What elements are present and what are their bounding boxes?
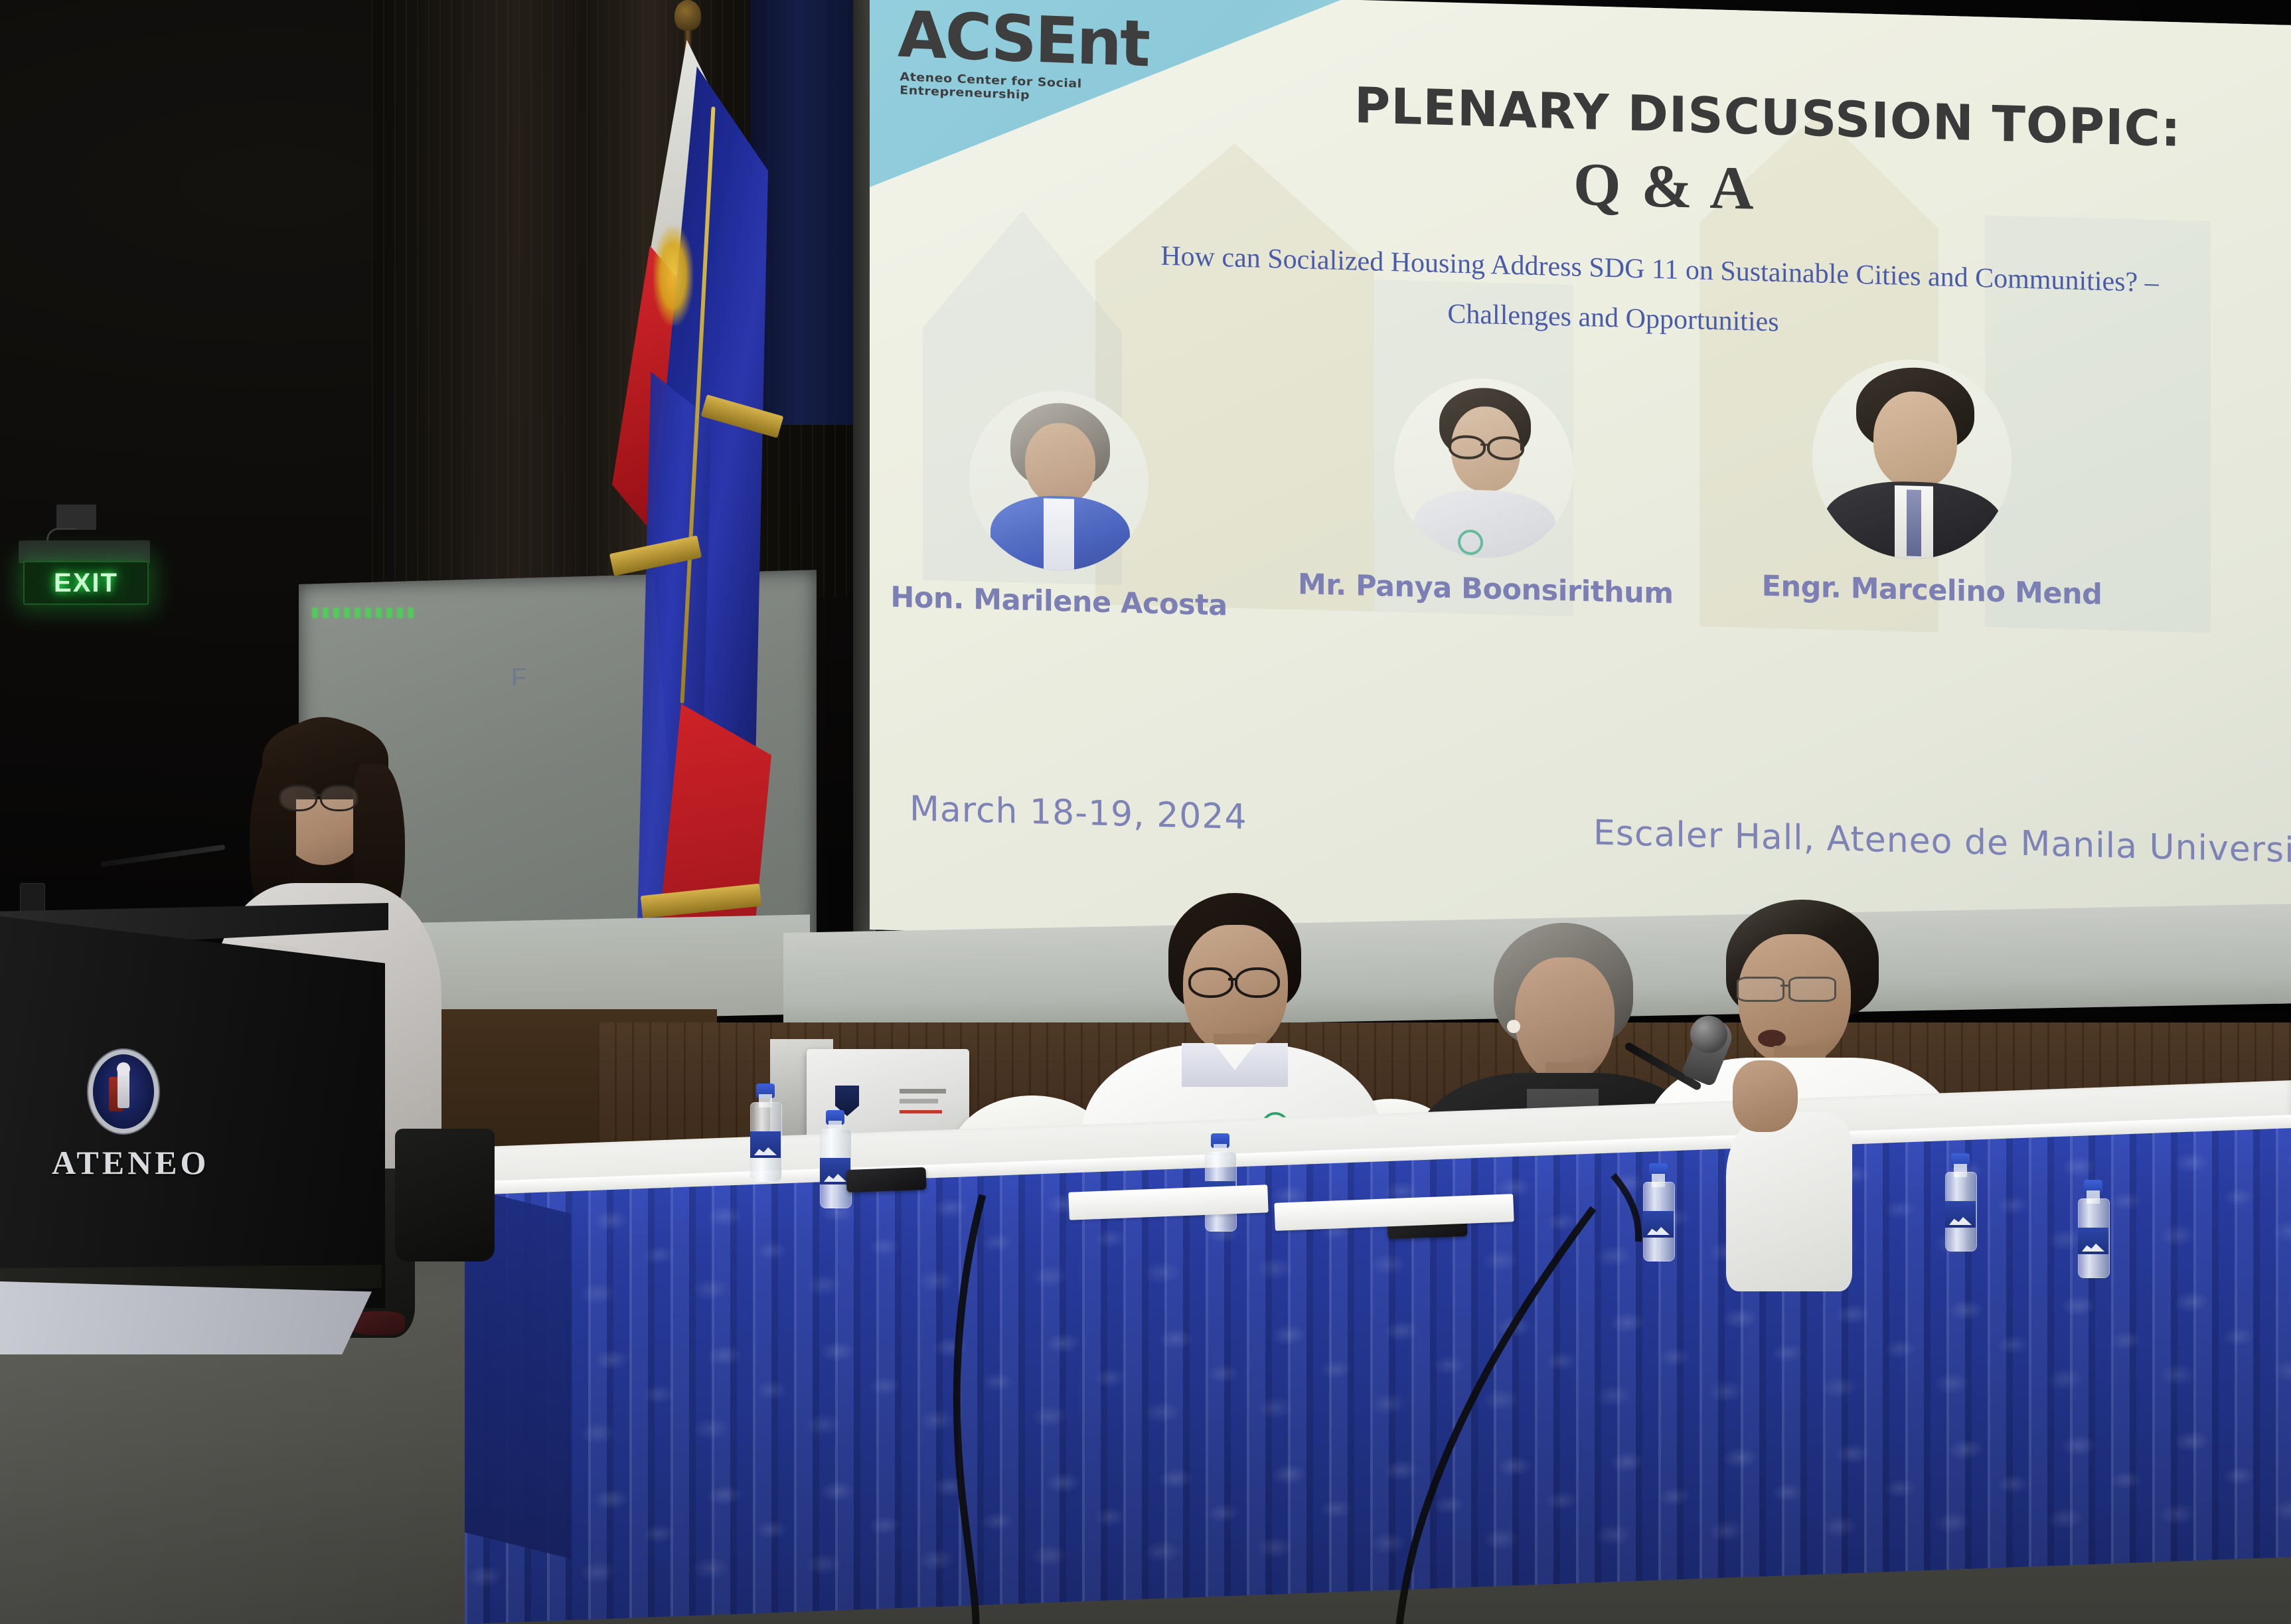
- speaker-name-2: Mr. Panya Boonsirithum: [1298, 568, 1670, 610]
- portrait-face: [1025, 422, 1095, 505]
- whiteboard-green-marks: [312, 608, 418, 618]
- panelist-glasses: [1737, 977, 1843, 999]
- conference-photo-scene: F EXIT ACSEnt Ateneo Center for Social E…: [0, 0, 2291, 1624]
- projection-screen: ACSEnt Ateneo Center for Social Entrepre…: [870, 0, 2291, 968]
- speaker-glasses: [279, 785, 365, 809]
- water-bottle[interactable]: [1945, 1152, 1976, 1252]
- speaker-portrait-2: Mr. Panya Boonsirithum: [1394, 376, 1573, 560]
- ups-stripe: [900, 1099, 938, 1103]
- exit-sign-hood: [19, 540, 150, 563]
- water-bottle[interactable]: [2078, 1178, 2108, 1278]
- portrait-glasses: [1449, 435, 1523, 457]
- portrait-shirt-logo: [1458, 529, 1483, 555]
- portrait-blouse: [1044, 499, 1074, 573]
- water-bottle[interactable]: [820, 1109, 850, 1208]
- panelist-earring: [1507, 1020, 1520, 1033]
- portrait-torso: [1414, 489, 1556, 560]
- remote-control[interactable]: [846, 1167, 926, 1192]
- ups-stripe: [900, 1089, 946, 1094]
- portrait-circle: [1394, 376, 1573, 560]
- panelist-hand: [1733, 1060, 1798, 1132]
- portrait-circle: [969, 389, 1148, 573]
- portrait-face: [1873, 390, 1957, 489]
- bag-on-floor: [395, 1129, 495, 1261]
- speaker-name-1: Hon. Marilene Acosta: [873, 580, 1245, 623]
- lectern: [0, 916, 385, 1308]
- water-bottle[interactable]: [1205, 1132, 1235, 1232]
- panelist-open-mouth: [1758, 1030, 1786, 1047]
- speaker-portrait-3: Engr. Marcelino Mend: [1812, 357, 2012, 562]
- panelist-glasses: [1188, 967, 1284, 994]
- portrait-circle: [1812, 357, 2012, 562]
- whiteboard-smudge: F: [511, 664, 534, 690]
- exit-sign-label: EXIT: [54, 568, 118, 598]
- exit-mount-plate: [56, 505, 96, 530]
- panelist-raised-arm: [1726, 1112, 1852, 1291]
- lectern-base: [0, 1281, 372, 1354]
- exit-sign: EXIT: [23, 561, 149, 605]
- speaker-name-3: Engr. Marcelino Mend: [1746, 569, 2118, 611]
- philippine-flag: [617, 27, 760, 976]
- blue-curtain: [750, 0, 870, 425]
- flag-sun-emblem: [653, 226, 693, 325]
- water-bottle[interactable]: [750, 1082, 781, 1182]
- water-bottle[interactable]: [1643, 1162, 1674, 1261]
- ateneo-seal-icon: [93, 1054, 154, 1129]
- microphone-head: [1690, 1016, 1727, 1053]
- portrait-tie: [1907, 489, 1921, 556]
- ups-red-stripe: [900, 1110, 942, 1113]
- speaker-portrait-1: Hon. Marilene Acosta: [969, 389, 1148, 573]
- lectern-wordmark: ATENEO: [52, 1143, 204, 1182]
- slide-date: March 18-19, 2024: [909, 789, 1247, 837]
